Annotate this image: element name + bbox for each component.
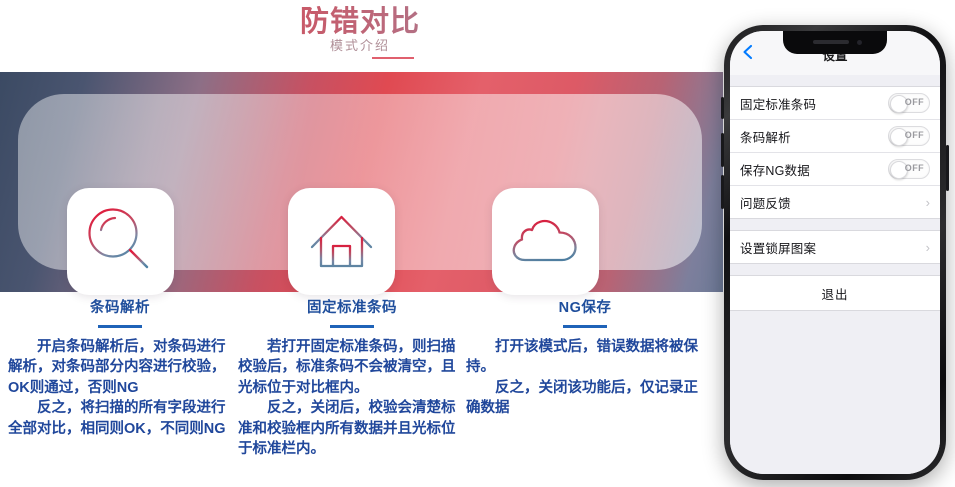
column-paragraph: 反之，关闭该功能后，仅记录正确数据 — [466, 378, 704, 419]
column-body: 开启条码解析后，对条码进行解析，对条码部分内容进行校验，OK则通过，否则NG 反… — [6, 337, 234, 440]
settings-row-save-ng-data[interactable]: 保存NG数据 OFF — [730, 153, 940, 186]
toggle-barcode-parse[interactable]: OFF — [888, 126, 930, 146]
row-label: 条码解析 — [740, 127, 888, 146]
phone-notch — [783, 31, 887, 54]
page-title: 防错对比 — [0, 6, 720, 38]
icon-card-barcode-parse[interactable] — [67, 188, 174, 295]
settings-row-barcode-parse[interactable]: 条码解析 OFF — [730, 120, 940, 153]
magnifier-icon — [67, 188, 174, 295]
row-label: 固定标准条码 — [740, 94, 888, 113]
settings-row-lock-pattern[interactable]: 设置锁屏图案 › — [730, 231, 940, 263]
column-ng-save: NG保存 打开该模式后，错误数据将被保持。 反之，关闭该功能后，仅记录正确数据 — [466, 298, 704, 419]
icon-card-fixed-standard-barcode[interactable] — [288, 188, 395, 295]
column-body: 打开该模式后，错误数据将被保持。 反之，关闭该功能后，仅记录正确数据 — [466, 337, 704, 419]
toggle-state-label: OFF — [905, 163, 924, 173]
settings-row-feedback[interactable]: 问题反馈 › — [730, 186, 940, 218]
column-heading: 条码解析 — [6, 298, 234, 318]
settings-row-fixed-standard-barcode[interactable]: 固定标准条码 OFF — [730, 87, 940, 120]
page-root: 防错对比 模式介绍 — [0, 0, 955, 487]
description-columns: 条码解析 开启条码解析后，对条码进行解析，对条码部分内容进行校验，OK则通过，否… — [0, 298, 720, 487]
column-paragraph: 若打开固定标准条码，则扫描校验后，标准条码不会被清空，且光标位于对比框内。 — [238, 337, 466, 399]
column-heading: NG保存 — [466, 298, 704, 318]
phone-mockup: 设置 固定标准条码 OFF 条码解析 — [724, 25, 946, 480]
toggle-save-ng-data[interactable]: OFF — [888, 159, 930, 179]
icon-card-ng-save[interactable] — [492, 188, 599, 295]
phone-volume-down-button[interactable] — [721, 175, 724, 209]
column-underline — [330, 325, 374, 328]
content-gap-before-exit — [730, 264, 940, 275]
content-gap-top — [730, 75, 940, 86]
subtitle-underline — [372, 57, 414, 59]
column-fixed-standard-barcode: 固定标准条码 若打开固定标准条码，则扫描校验后，标准条码不会被清空，且光标位于对… — [238, 298, 466, 460]
exit-button-label: 退出 — [821, 284, 848, 303]
phone-power-button[interactable] — [946, 145, 949, 191]
column-paragraph: 打开该模式后，错误数据将被保持。 — [466, 337, 704, 378]
toggle-state-label: OFF — [905, 130, 924, 140]
exit-button[interactable]: 退出 — [730, 275, 940, 311]
settings-group-secondary: 设置锁屏图案 › — [730, 230, 940, 264]
page-header: 防错对比 模式介绍 — [0, 0, 720, 72]
column-heading: 固定标准条码 — [238, 298, 466, 318]
earpiece-speaker — [813, 40, 849, 44]
column-body: 若打开固定标准条码，则扫描校验后，标准条码不会被清空，且光标位于对比框内。 反之… — [238, 337, 466, 460]
gradient-banner — [0, 72, 723, 292]
column-paragraph: 开启条码解析后，对条码进行解析，对条码部分内容进行校验，OK则通过，否则NG — [8, 337, 234, 399]
settings-content: 固定标准条码 OFF 条码解析 OFF — [730, 75, 940, 474]
content-gap-middle — [730, 219, 940, 230]
column-paragraph: 反之，将扫描的所有字段进行全部对比，相同则OK，不同则NG — [8, 398, 234, 439]
cloud-icon — [492, 188, 599, 295]
phone-volume-up-button[interactable] — [721, 133, 724, 167]
toggle-state-label: OFF — [905, 97, 924, 107]
home-icon — [288, 188, 395, 295]
column-paragraph: 反之，关闭后，校验会清楚标准和校验框内所有数据并且光标位于标准栏内。 — [238, 398, 466, 460]
column-underline — [98, 325, 142, 328]
settings-group-primary: 固定标准条码 OFF 条码解析 OFF — [730, 86, 940, 219]
row-label: 保存NG数据 — [740, 160, 888, 179]
row-label: 设置锁屏图案 — [740, 238, 926, 257]
front-camera — [857, 40, 862, 45]
toggle-fixed-standard-barcode[interactable]: OFF — [888, 93, 930, 113]
column-underline — [563, 325, 607, 328]
row-label: 问题反馈 — [740, 193, 926, 212]
phone-screen: 设置 固定标准条码 OFF 条码解析 — [730, 31, 940, 474]
column-barcode-parse: 条码解析 开启条码解析后，对条码进行解析，对条码部分内容进行校验，OK则通过，否… — [6, 298, 234, 439]
chevron-right-icon: › — [926, 196, 930, 209]
chevron-right-icon: › — [926, 241, 930, 254]
page-subtitle: 模式介绍 — [0, 38, 720, 54]
phone-mute-button[interactable] — [721, 97, 724, 119]
